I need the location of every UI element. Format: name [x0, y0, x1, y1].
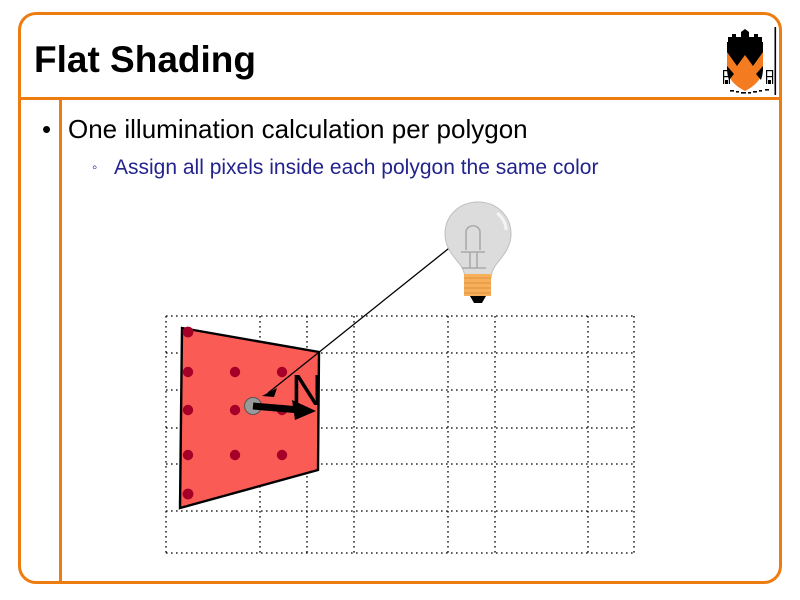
flat-shading-diagram: N: [0, 0, 800, 600]
slide: Flat Shading: [0, 0, 800, 600]
light-bulb-icon: [445, 202, 511, 303]
normal-vector-label: N: [291, 366, 323, 415]
